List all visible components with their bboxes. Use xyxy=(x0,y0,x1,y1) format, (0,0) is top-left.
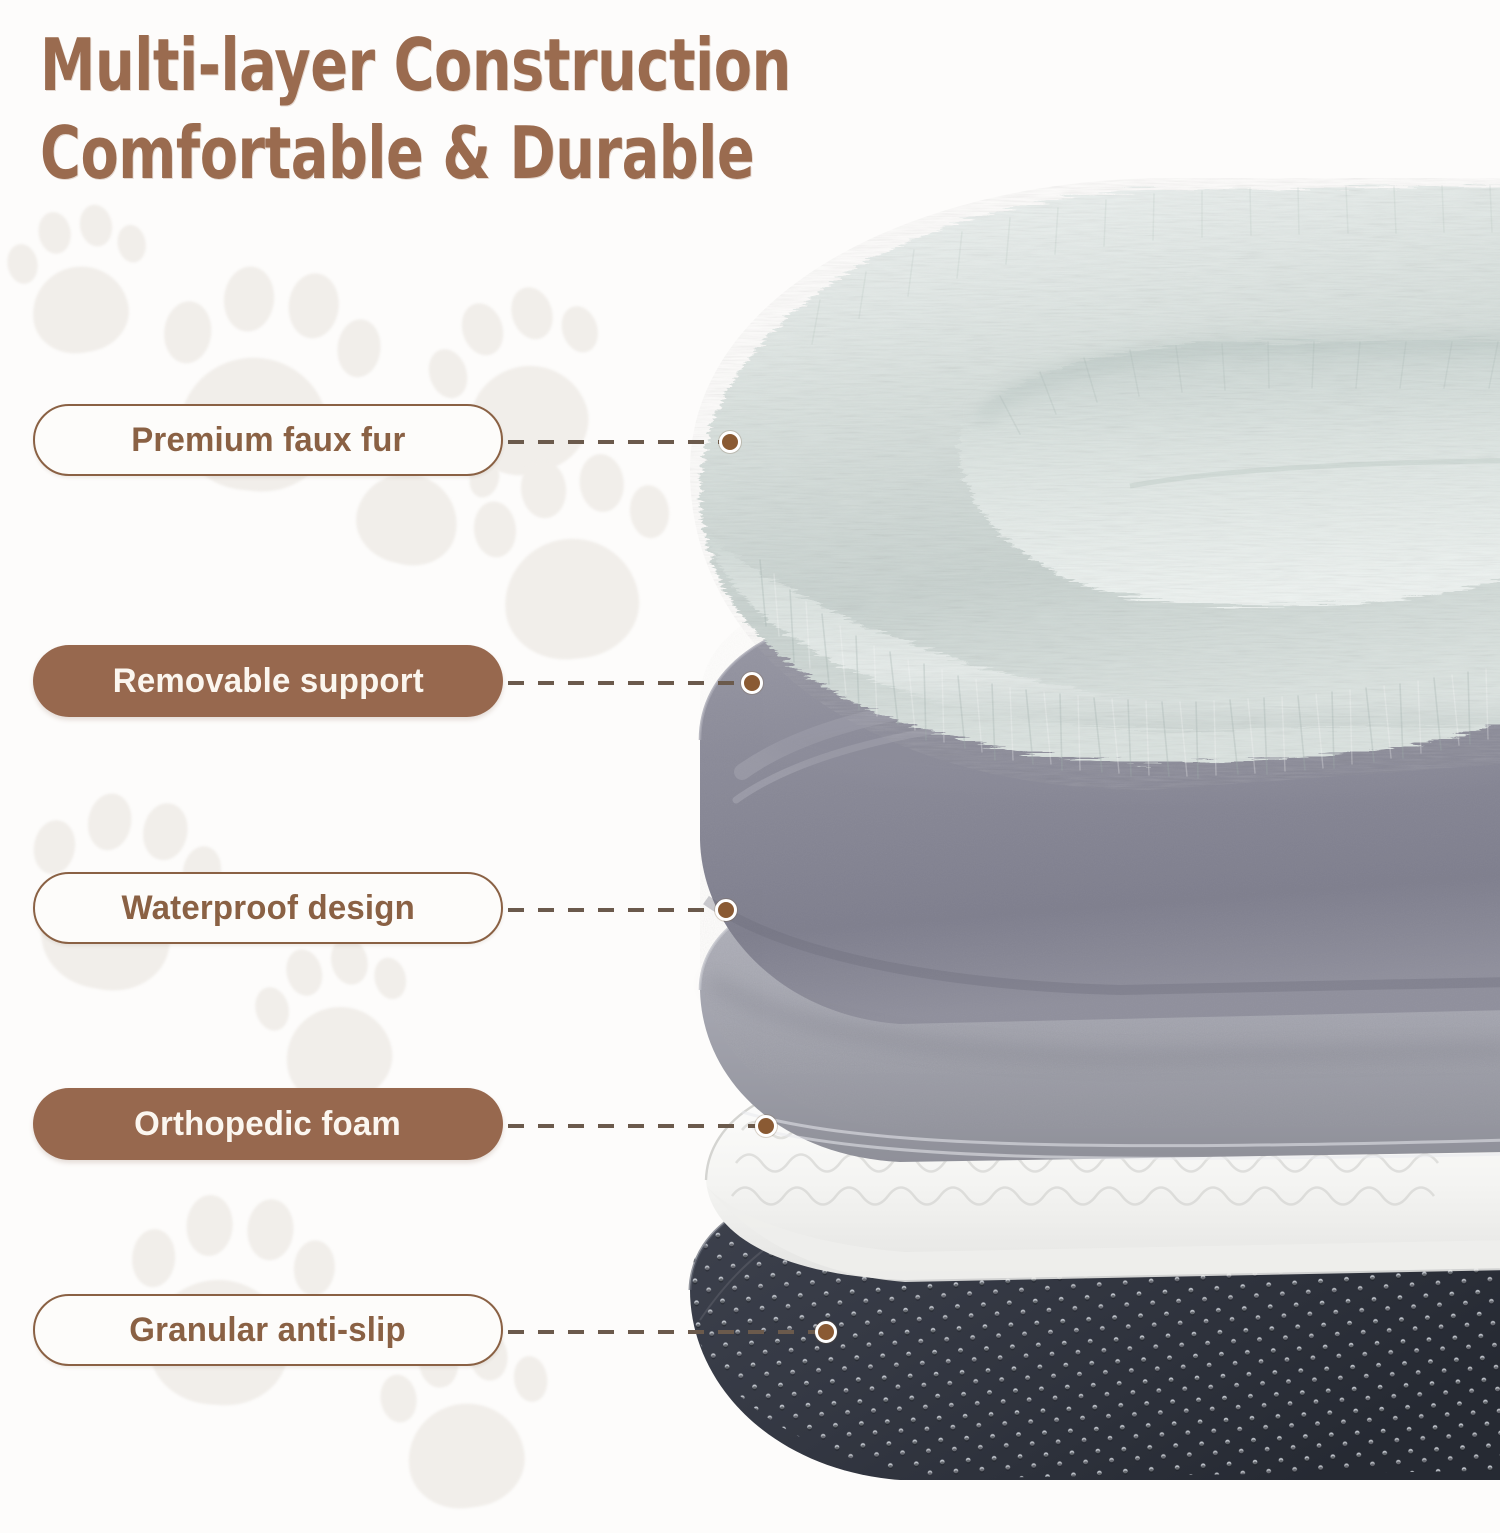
callout-premium-faux-fur[interactable]: Premium faux fur xyxy=(33,404,503,476)
pill-granular-anti-slip[interactable]: Granular anti-slip xyxy=(33,1294,503,1366)
product-image-pet-bed xyxy=(0,0,1500,1480)
layer-orthopedic-foam xyxy=(706,1064,1500,1282)
pill-label: Granular anti-slip xyxy=(130,1311,407,1350)
pill-orthopedic-foam[interactable]: Orthopedic foam xyxy=(33,1088,503,1160)
leader-endpoint-dot-icon xyxy=(741,672,763,694)
leader-line-premium-faux-fur xyxy=(508,440,730,444)
leader-endpoint-dot-icon xyxy=(755,1115,777,1137)
leader-line-removable-support xyxy=(508,681,752,685)
paw-print-icon xyxy=(0,194,159,376)
paw-print-watermark-layer xyxy=(0,0,1500,1480)
layer-faux-fur xyxy=(690,180,1500,798)
leader-endpoint-dot-icon xyxy=(815,1321,837,1343)
callout-granular-anti-slip[interactable]: Granular anti-slip xyxy=(33,1294,503,1366)
pill-label: Removable support xyxy=(112,662,423,701)
paw-print-icon xyxy=(1378,1190,1500,1403)
leader-line-waterproof-design xyxy=(508,908,726,912)
leader-line-granular-anti-slip xyxy=(508,1330,826,1334)
pill-label: Waterproof design xyxy=(121,889,414,928)
leader-dashes xyxy=(508,1124,766,1128)
callout-removable-support[interactable]: Removable support xyxy=(33,645,503,717)
leader-line-orthopedic-foam xyxy=(508,1124,766,1128)
leader-dashes xyxy=(508,440,730,444)
pill-premium-faux-fur[interactable]: Premium faux fur xyxy=(33,404,503,476)
paw-print-icon xyxy=(138,251,380,520)
layer-waterproof-liner xyxy=(660,860,1500,1180)
callout-orthopedic-foam[interactable]: Orthopedic foam xyxy=(33,1088,503,1160)
leader-dashes xyxy=(508,908,726,912)
pill-removable-support[interactable]: Removable support xyxy=(33,645,503,717)
pill-label: Premium faux fur xyxy=(131,421,405,460)
layer-removable-support xyxy=(660,580,1500,1058)
leader-endpoint-dot-icon xyxy=(715,899,737,921)
title-line-1: Multi-layer Construction xyxy=(40,22,791,110)
layer-granular-anti-slip xyxy=(660,1165,1500,1480)
page-title: Multi-layer Construction Comfortable & D… xyxy=(40,22,791,198)
leader-dashes xyxy=(508,1330,826,1334)
callout-waterproof-design[interactable]: Waterproof design xyxy=(33,872,503,944)
pill-waterproof-design[interactable]: Waterproof design xyxy=(33,872,503,944)
leader-dashes xyxy=(508,681,752,685)
title-line-2: Comfortable & Durable xyxy=(40,110,791,198)
leader-endpoint-dot-icon xyxy=(719,431,741,453)
pill-label: Orthopedic foam xyxy=(135,1105,402,1144)
